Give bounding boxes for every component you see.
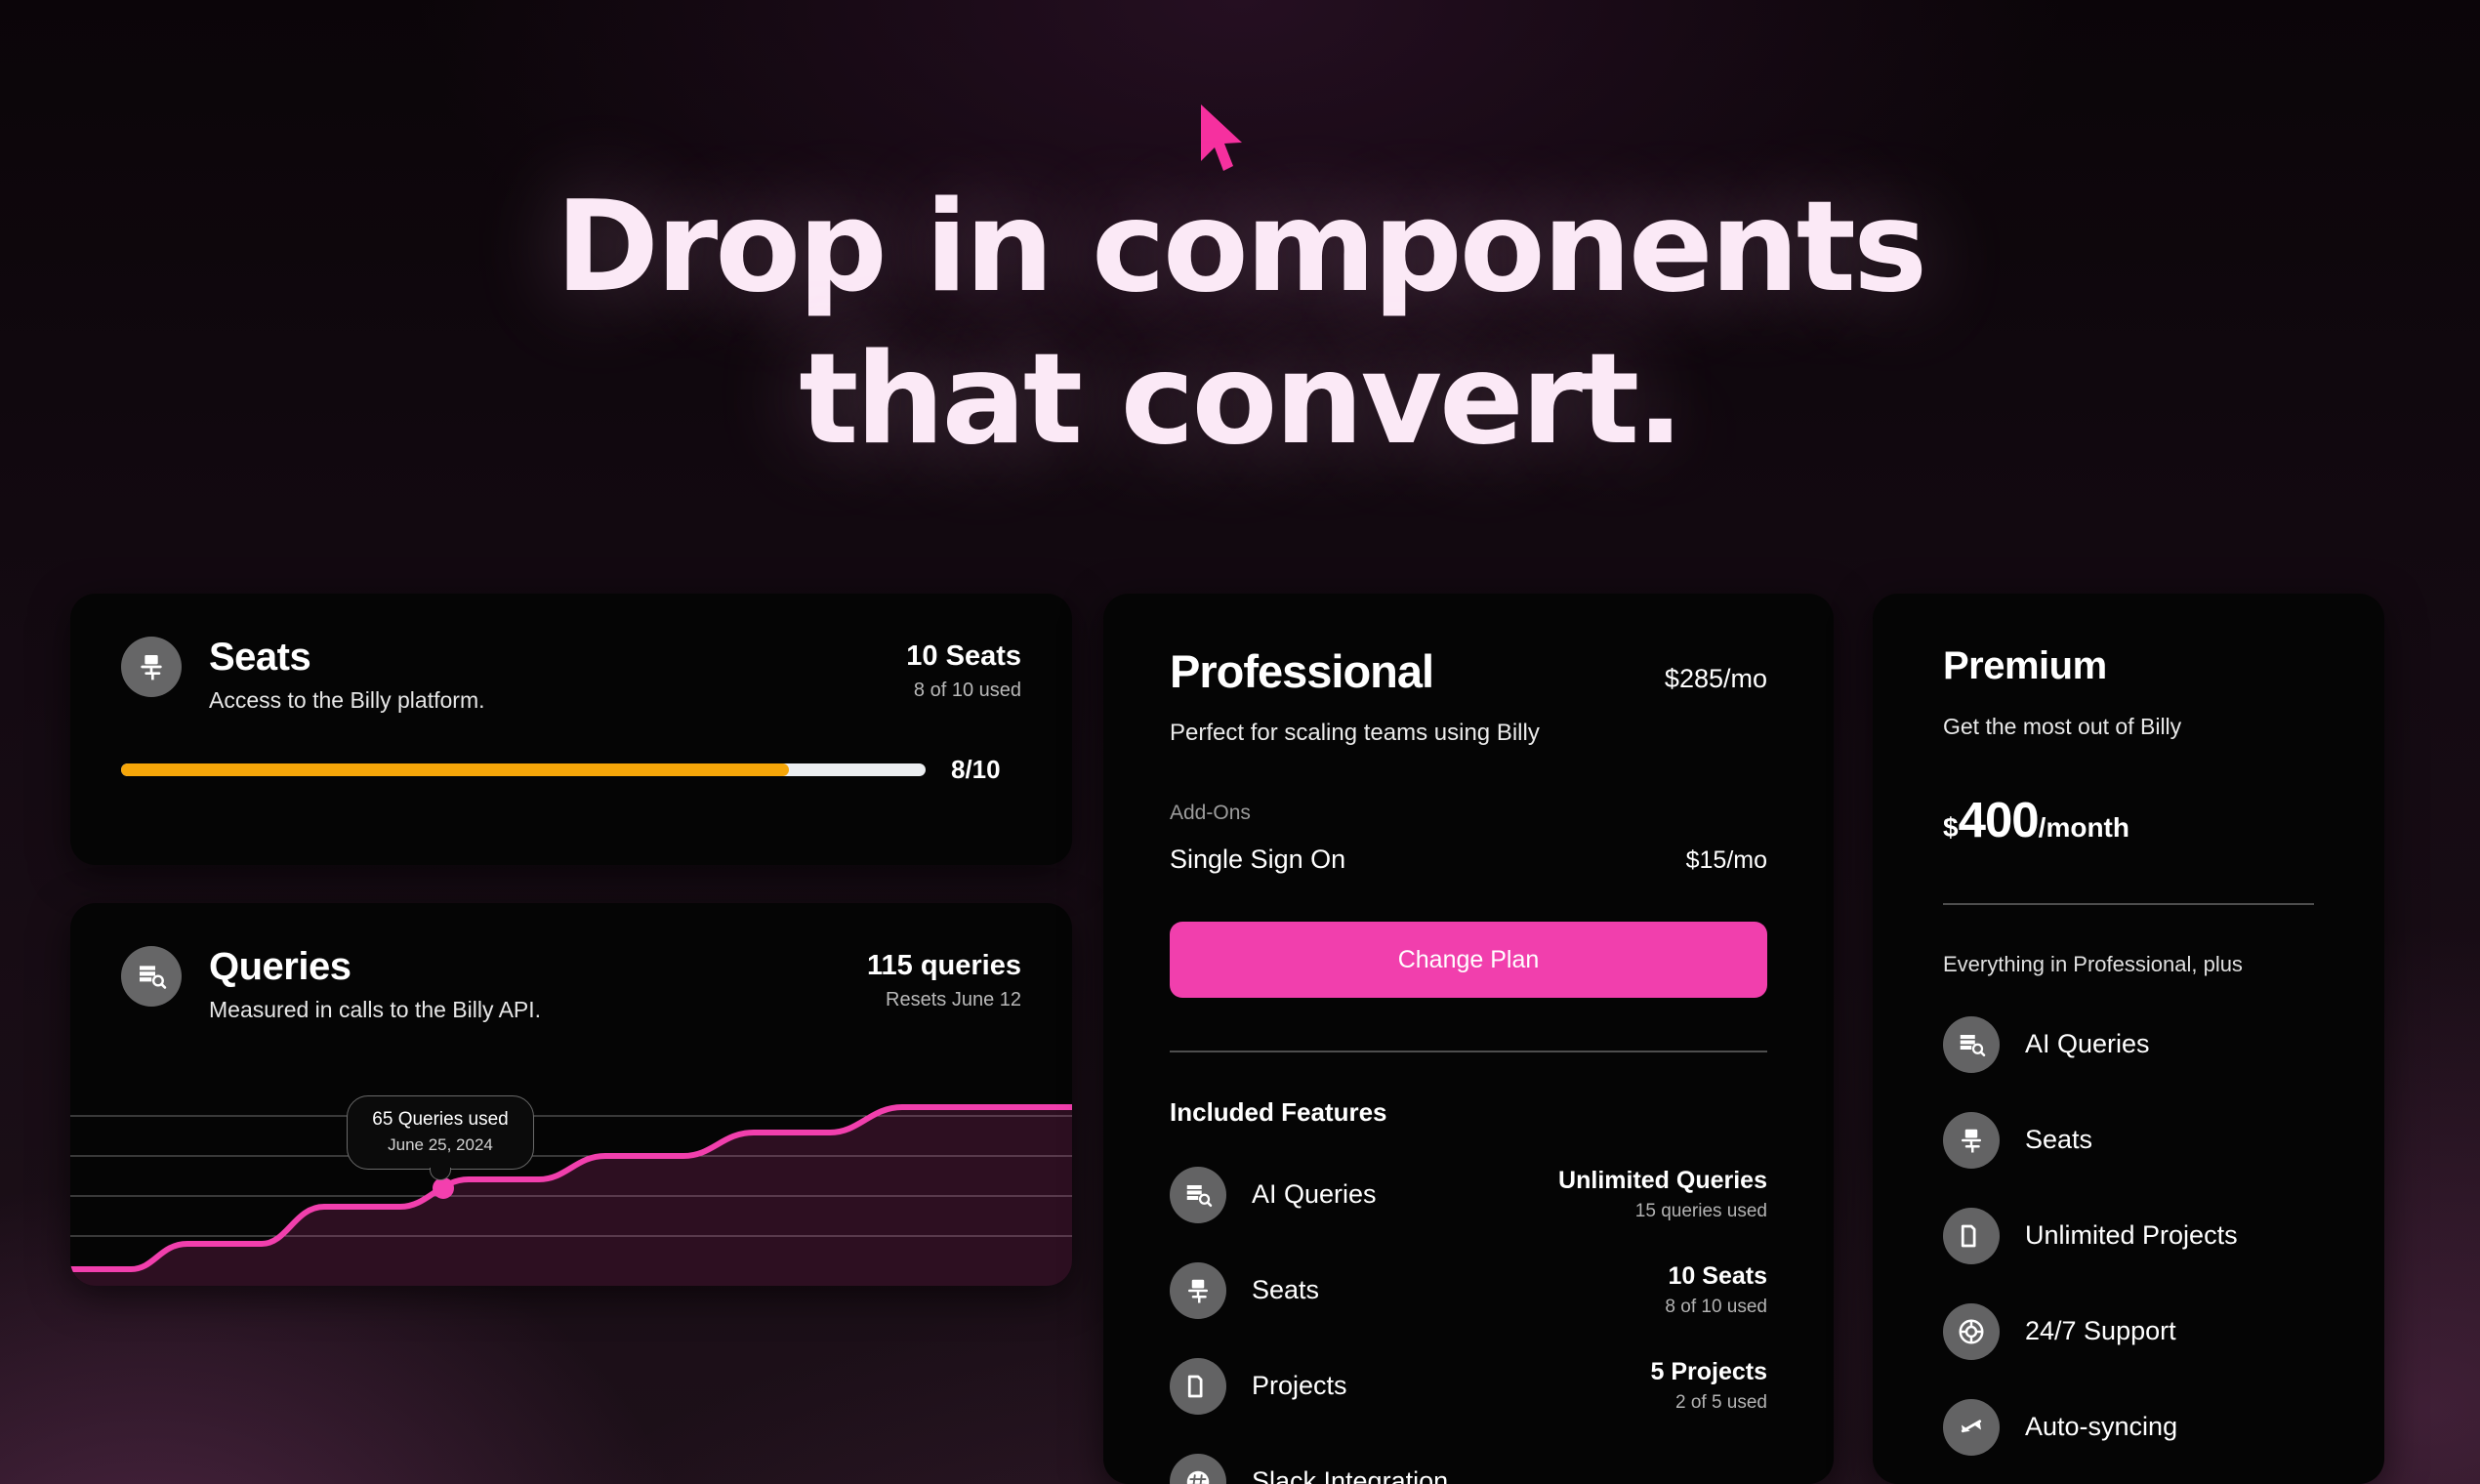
- premium-description: Get the most out of Billy: [1943, 714, 2314, 740]
- premium-summary: Premium Get the most out of Billy $ 400 …: [1873, 594, 2384, 905]
- seats-used: 8 of 10 used: [906, 680, 1021, 702]
- premium-feature-autosync: Auto-syncing: [1873, 1399, 2384, 1456]
- addon-row[interactable]: Single Sign On $15/mo: [1170, 845, 1767, 875]
- chart-tooltip: 65 Queries used June 25, 2024: [347, 1095, 534, 1170]
- queries-subtitle: Measured in calls to the Billy API.: [209, 997, 867, 1023]
- premium-feature-projects: Unlimited Projects: [1873, 1208, 2384, 1264]
- feature-value-block: 10 Seats 8 of 10 used: [1665, 1262, 1767, 1318]
- feature-used: 8 of 10 used: [1665, 1297, 1767, 1318]
- feature-used: 15 queries used: [1558, 1201, 1767, 1222]
- professional-description: Perfect for scaling teams using Billy: [1170, 720, 1767, 747]
- premium-feature-support: 24/7 Support: [1873, 1303, 2384, 1360]
- queries-chart: [70, 1086, 1072, 1286]
- queries-total-block: 115 queries Resets June 12: [867, 946, 1021, 1011]
- seats-progress-fill: [121, 763, 789, 776]
- addon-price: $15/mo: [1686, 846, 1767, 875]
- professional-title: Professional: [1170, 644, 1433, 698]
- premium-price-currency: $: [1943, 812, 1959, 844]
- seats-progress-label: 8/10: [951, 755, 1021, 785]
- premium-feature-label: Unlimited Projects: [2025, 1220, 2238, 1251]
- premium-price-amount: 400: [1959, 791, 2039, 848]
- feature-name: Seats: [1252, 1275, 1665, 1305]
- life-ring-icon: [1943, 1303, 2000, 1360]
- premium-price: $ 400 /month: [1943, 791, 2314, 848]
- feature-name: Slack Integration: [1252, 1466, 1767, 1484]
- seats-title: Seats: [209, 637, 906, 678]
- database-search-icon: [1943, 1016, 2000, 1073]
- queries-card-header: Queries Measured in calls to the Billy A…: [70, 903, 1072, 1023]
- premium-title: Premium: [1943, 644, 2314, 688]
- feature-name: AI Queries: [1252, 1179, 1558, 1210]
- seats-quota-block: 10 Seats 8 of 10 used: [906, 637, 1021, 702]
- premium-feature-seats: Seats: [1873, 1112, 2384, 1169]
- hero-line-2: that convert.: [0, 338, 2480, 463]
- queries-title: Queries: [209, 946, 867, 987]
- premium-plan-card: Premium Get the most out of Billy $ 400 …: [1873, 594, 2384, 1484]
- professional-plan-card: Professional $285/mo Perfect for scaling…: [1103, 594, 1834, 1484]
- premium-feature-label: Seats: [2025, 1125, 2092, 1155]
- professional-summary: Professional $285/mo Perfect for scaling…: [1103, 594, 1834, 1052]
- queries-resets: Resets June 12: [867, 989, 1021, 1011]
- feature-value: 5 Projects: [1650, 1358, 1767, 1386]
- queries-total: 115 queries: [867, 950, 1021, 982]
- seats-progress-track: [121, 763, 926, 776]
- premium-feature-label: AI Queries: [2025, 1029, 2150, 1059]
- feature-value-block: Unlimited Queries 15 queries used: [1558, 1167, 1767, 1222]
- seats-subtitle: Access to the Billy platform.: [209, 687, 906, 714]
- feature-used: 2 of 5 used: [1650, 1392, 1767, 1414]
- change-plan-button[interactable]: Change Plan: [1170, 922, 1767, 998]
- premium-feature-label: 24/7 Support: [2025, 1316, 2176, 1346]
- professional-price: $285/mo: [1665, 664, 1767, 694]
- premium-note: Everything in Professional, plus: [1873, 905, 2384, 977]
- chart-highlight-point: [433, 1177, 454, 1199]
- addon-name: Single Sign On: [1170, 845, 1345, 875]
- feature-row-slack: Slack Integration: [1103, 1454, 1834, 1484]
- included-features-heading: Included Features: [1103, 1052, 1834, 1128]
- premium-price-period: /month: [2039, 812, 2129, 844]
- premium-feature-label: Auto-syncing: [2025, 1412, 2177, 1442]
- feature-value: Unlimited Queries: [1558, 1167, 1767, 1195]
- page-title: Drop in components that convert.: [0, 185, 2480, 463]
- queries-card: Queries Measured in calls to the Billy A…: [70, 903, 1072, 1286]
- folder-icon: [1170, 1358, 1226, 1415]
- seats-card: Seats Access to the Billy platform. 10 S…: [70, 594, 1072, 865]
- chart-tooltip-value: 65 Queries used: [357, 1109, 523, 1131]
- feature-row-seats: Seats 10 Seats 8 of 10 used: [1103, 1262, 1834, 1319]
- database-search-icon: [1170, 1167, 1226, 1223]
- addons-label: Add-Ons: [1170, 802, 1767, 825]
- feature-name: Projects: [1252, 1371, 1650, 1401]
- office-chair-icon: [121, 637, 182, 697]
- seats-card-header: Seats Access to the Billy platform. 10 S…: [70, 594, 1072, 714]
- queries-title-block: Queries Measured in calls to the Billy A…: [209, 946, 867, 1023]
- hero-line-1: Drop in components: [556, 175, 1924, 320]
- feature-row-ai-queries: AI Queries Unlimited Queries 15 queries …: [1103, 1167, 1834, 1223]
- database-search-icon: [121, 946, 182, 1007]
- seats-progress-row: 8/10: [70, 755, 1072, 785]
- premium-feature-ai-queries: AI Queries: [1873, 1016, 2384, 1073]
- sync-arrows-icon: [1943, 1399, 2000, 1456]
- feature-row-projects: Projects 5 Projects 2 of 5 used: [1103, 1358, 1834, 1415]
- chart-tooltip-date: June 25, 2024: [357, 1135, 523, 1155]
- mouse-pointer-icon: [1193, 103, 1252, 181]
- professional-header: Professional $285/mo: [1170, 644, 1767, 698]
- slack-hash-icon: [1170, 1454, 1226, 1484]
- office-chair-icon: [1170, 1262, 1226, 1319]
- folder-icon: [1943, 1208, 2000, 1264]
- office-chair-icon: [1943, 1112, 2000, 1169]
- feature-value-block: 5 Projects 2 of 5 used: [1650, 1358, 1767, 1414]
- seats-quota: 10 Seats: [906, 640, 1021, 673]
- seats-title-block: Seats Access to the Billy platform.: [209, 637, 906, 714]
- feature-value: 10 Seats: [1665, 1262, 1767, 1291]
